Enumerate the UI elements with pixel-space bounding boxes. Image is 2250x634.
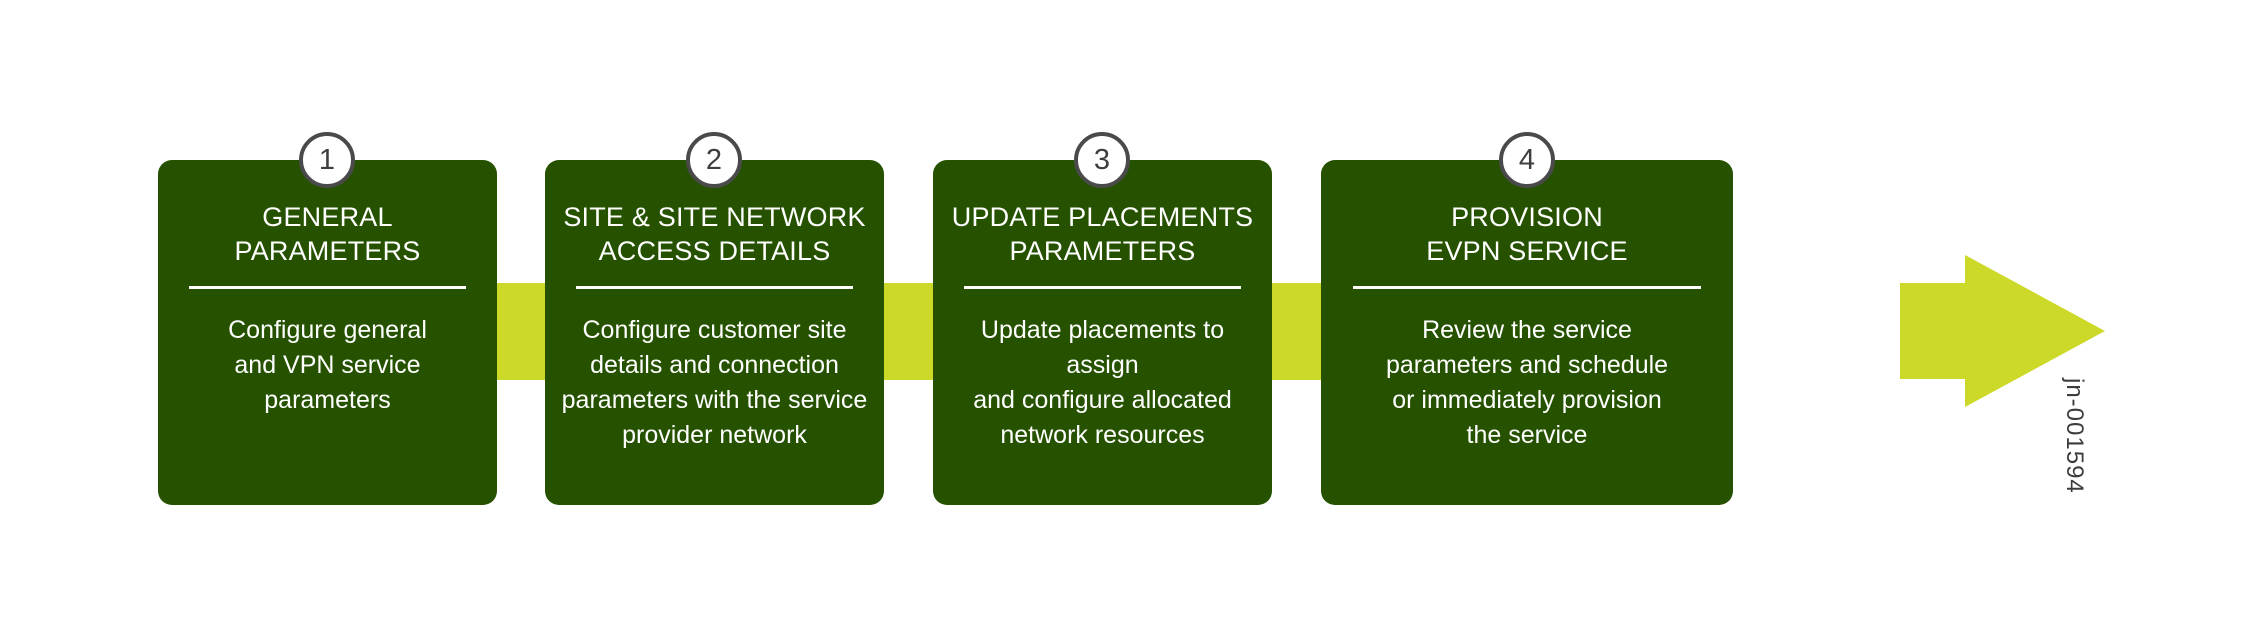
step-title-3: UPDATE PLACEMENTS PARAMETERS [952,200,1253,268]
step-badge-4: 4 [1499,132,1555,188]
connector-band-3-4 [1266,283,1326,380]
step-card-2: SITE & SITE NETWORK ACCESS DETAILS Confi… [545,160,884,505]
step-card-4: PROVISION EVPN SERVICE Review the servic… [1321,160,1733,505]
step-badge-2: 2 [686,132,742,188]
step-number-3: 3 [1094,146,1110,175]
figure-id-label: jn-001594 [2060,378,2088,494]
step-description-4: Review the service parameters and schedu… [1386,313,1668,453]
step-description-1: Configure general and VPN service parame… [228,313,427,418]
step-number-1: 1 [319,146,335,175]
connector-band-1-2 [490,283,550,380]
step-title-2: SITE & SITE NETWORK ACCESS DETAILS [563,200,865,268]
step-number-4: 4 [1519,146,1535,175]
step-divider-4 [1353,286,1701,289]
step-divider-3 [964,286,1241,289]
step-title-1: GENERAL PARAMETERS [234,200,420,268]
step-divider-2 [576,286,853,289]
step-divider-1 [189,286,466,289]
step-number-2: 2 [706,146,722,175]
step-badge-3: 3 [1074,132,1130,188]
connector-band-2-3 [878,283,938,380]
step-card-3: UPDATE PLACEMENTS PARAMETERS Update plac… [933,160,1272,505]
step-title-4: PROVISION EVPN SERVICE [1426,200,1627,268]
step-badge-1: 1 [299,132,355,188]
step-description-3: Update placements to assign and configur… [947,313,1258,453]
workflow-diagram: GENERAL PARAMETERS Configure general and… [0,0,2250,634]
step-card-1: GENERAL PARAMETERS Configure general and… [158,160,497,505]
step-description-2: Configure customer site details and conn… [562,313,868,453]
